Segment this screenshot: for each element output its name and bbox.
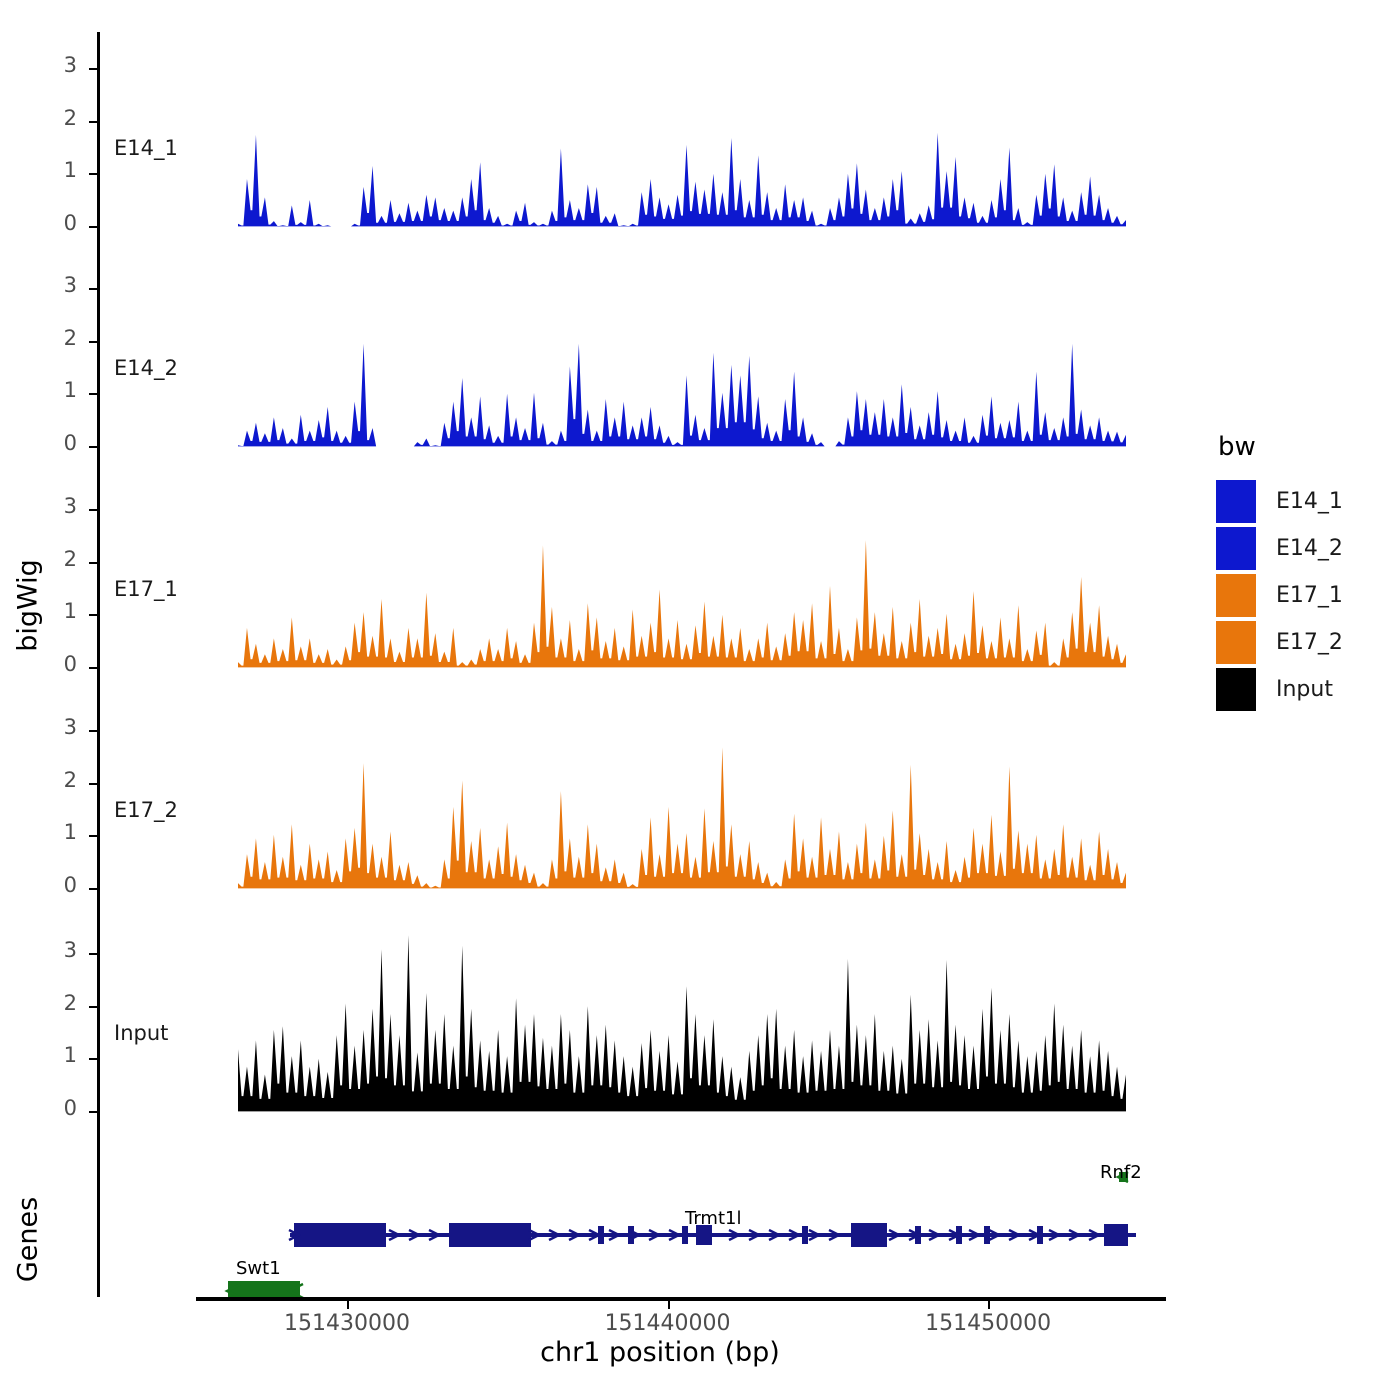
y-tick-label-e17_2-0: 0: [37, 873, 77, 897]
trmt1l-exon-8: [851, 1223, 887, 1247]
y-tick-e14_1-0: [89, 226, 97, 228]
y-tick-label-e14_2-0: 0: [37, 431, 77, 455]
track-label-e14_2: E14_2: [114, 356, 178, 380]
legend-title: bw: [1216, 432, 1396, 462]
x-tick-label-151430000: 151430000: [247, 1311, 447, 1336]
y-tick-e17_2-0: [89, 888, 97, 890]
y-tick-label-e17_2-3: 3: [37, 715, 77, 739]
legend-item-e14_2[interactable]: E14_2: [1216, 525, 1396, 572]
y-tick-e14_2-1: [89, 393, 97, 395]
coverage-track-e17_1: [238, 478, 1130, 674]
y-tick-label-e14_1-2: 2: [37, 106, 77, 130]
y-tick-e17_2-2: [89, 783, 97, 785]
y-tick-label-e14_1-1: 1: [37, 158, 77, 182]
legend-swatch-input: [1216, 668, 1256, 711]
legend-swatch-e14_2: [1216, 527, 1256, 570]
panel-spine-e17_1: [97, 474, 100, 718]
track-label-input: Input: [114, 1021, 168, 1045]
legend-label-e17_1: E17_1: [1276, 583, 1343, 608]
legend-swatch-e17_1: [1216, 574, 1256, 617]
y-tick-label-input-1: 1: [37, 1043, 77, 1067]
y-tick-e14_2-2: [89, 341, 97, 343]
legend-item-e14_1[interactable]: E14_1: [1216, 478, 1396, 525]
coverage-track-e17_2: [238, 699, 1130, 895]
x-axis-line: [196, 1297, 1166, 1301]
coverage-area-e14_1: [238, 132, 1126, 226]
gene-label-swt1: Swt1: [236, 1258, 281, 1279]
panel-spine-e14_2: [97, 253, 100, 497]
y-tick-label-e17_1-1: 1: [37, 599, 77, 623]
y-tick-label-e14_1-3: 3: [37, 53, 77, 77]
genes-panel-spine: [97, 1157, 100, 1297]
track-label-e17_1: E17_1: [114, 577, 178, 601]
y-tick-input-0: [89, 1111, 97, 1113]
x-tick-151450000: [988, 1300, 990, 1309]
trmt1l-exon-4: [628, 1226, 634, 1244]
coverage-area-input: [238, 935, 1126, 1111]
legend: bw E14_1E14_2E17_1E17_2Input: [1216, 432, 1396, 713]
y-tick-label-e14_2-3: 3: [37, 273, 77, 297]
y-tick-label-e14_1-0: 0: [37, 211, 77, 235]
y-tick-label-input-0: 0: [37, 1096, 77, 1120]
y-tick-label-e17_1-0: 0: [37, 652, 77, 676]
panel-spine-e14_1: [97, 32, 100, 276]
y-tick-e14_1-3: [89, 68, 97, 70]
panel-spine-input: [97, 916, 100, 1160]
legend-label-e17_2: E17_2: [1276, 630, 1343, 655]
genes-track-graphic: [196, 1155, 1196, 1315]
y-tick-e14_1-1: [89, 173, 97, 175]
y-tick-label-input-2: 2: [37, 991, 77, 1015]
x-tick-label-151440000: 151440000: [568, 1311, 768, 1336]
legend-swatch-e14_1: [1216, 480, 1256, 523]
legend-swatch-e17_2: [1216, 621, 1256, 664]
coverage-area-e17_1: [238, 540, 1126, 667]
legend-label-e14_2: E14_2: [1276, 536, 1343, 561]
y-tick-label-e17_2-1: 1: [37, 820, 77, 844]
gene-label-trmt1l: Trmt1l: [685, 1208, 741, 1229]
x-axis-title: chr1 position (bp): [160, 1337, 1160, 1368]
track-label-e14_1: E14_1: [114, 136, 178, 160]
coverage-track-e14_1: [238, 37, 1130, 233]
trmt1l-exon-13: [1104, 1224, 1128, 1246]
x-tick-151440000: [668, 1300, 670, 1309]
y-tick-label-e17_2-2: 2: [37, 768, 77, 792]
y-tick-e17_1-0: [89, 667, 97, 669]
coverage-track-e14_2: [238, 257, 1130, 453]
legend-item-input[interactable]: Input: [1216, 666, 1396, 713]
trmt1l-exon-7: [802, 1226, 808, 1244]
legend-label-e14_1: E14_1: [1276, 489, 1343, 514]
y-tick-e17_1-2: [89, 562, 97, 564]
x-tick-label-151450000: 151450000: [888, 1311, 1088, 1336]
coverage-track-input: [238, 922, 1130, 1118]
panel-spine-e17_2: [97, 695, 100, 939]
y-tick-input-3: [89, 953, 97, 955]
trmt1l-exon-11: [984, 1226, 990, 1244]
coverage-area-e14_2: [238, 343, 1126, 446]
y-tick-e17_2-1: [89, 835, 97, 837]
y-tick-label-e14_2-2: 2: [37, 326, 77, 350]
y-tick-input-2: [89, 1006, 97, 1008]
legend-item-e17_1[interactable]: E17_1: [1216, 572, 1396, 619]
y-tick-label-e17_1-3: 3: [37, 494, 77, 518]
y-tick-input-1: [89, 1058, 97, 1060]
x-tick-151430000: [347, 1300, 349, 1309]
coverage-area-e17_2: [238, 747, 1126, 888]
genes-panel: Trmt1l Swt1 Rnf2: [0, 1155, 1200, 1315]
y-tick-e17_1-1: [89, 614, 97, 616]
trmt1l-exon-2: [449, 1223, 531, 1247]
legend-item-e17_2[interactable]: E17_2: [1216, 619, 1396, 666]
y-tick-label-input-3: 3: [37, 938, 77, 962]
y-tick-e14_1-2: [89, 121, 97, 123]
y-tick-e14_2-0: [89, 446, 97, 448]
y-tick-label-e14_2-1: 1: [37, 378, 77, 402]
track-label-e17_2: E17_2: [114, 798, 178, 822]
legend-label-input: Input: [1276, 677, 1333, 702]
y-tick-e17_2-3: [89, 730, 97, 732]
trmt1l-exon-1: [294, 1223, 386, 1247]
y-tick-e17_1-3: [89, 509, 97, 511]
y-tick-label-e17_1-2: 2: [37, 547, 77, 571]
y-tick-e14_2-3: [89, 288, 97, 290]
gene-label-rnf2: Rnf2: [1100, 1162, 1142, 1183]
legend-items: E14_1E14_2E17_1E17_2Input: [1216, 478, 1396, 713]
